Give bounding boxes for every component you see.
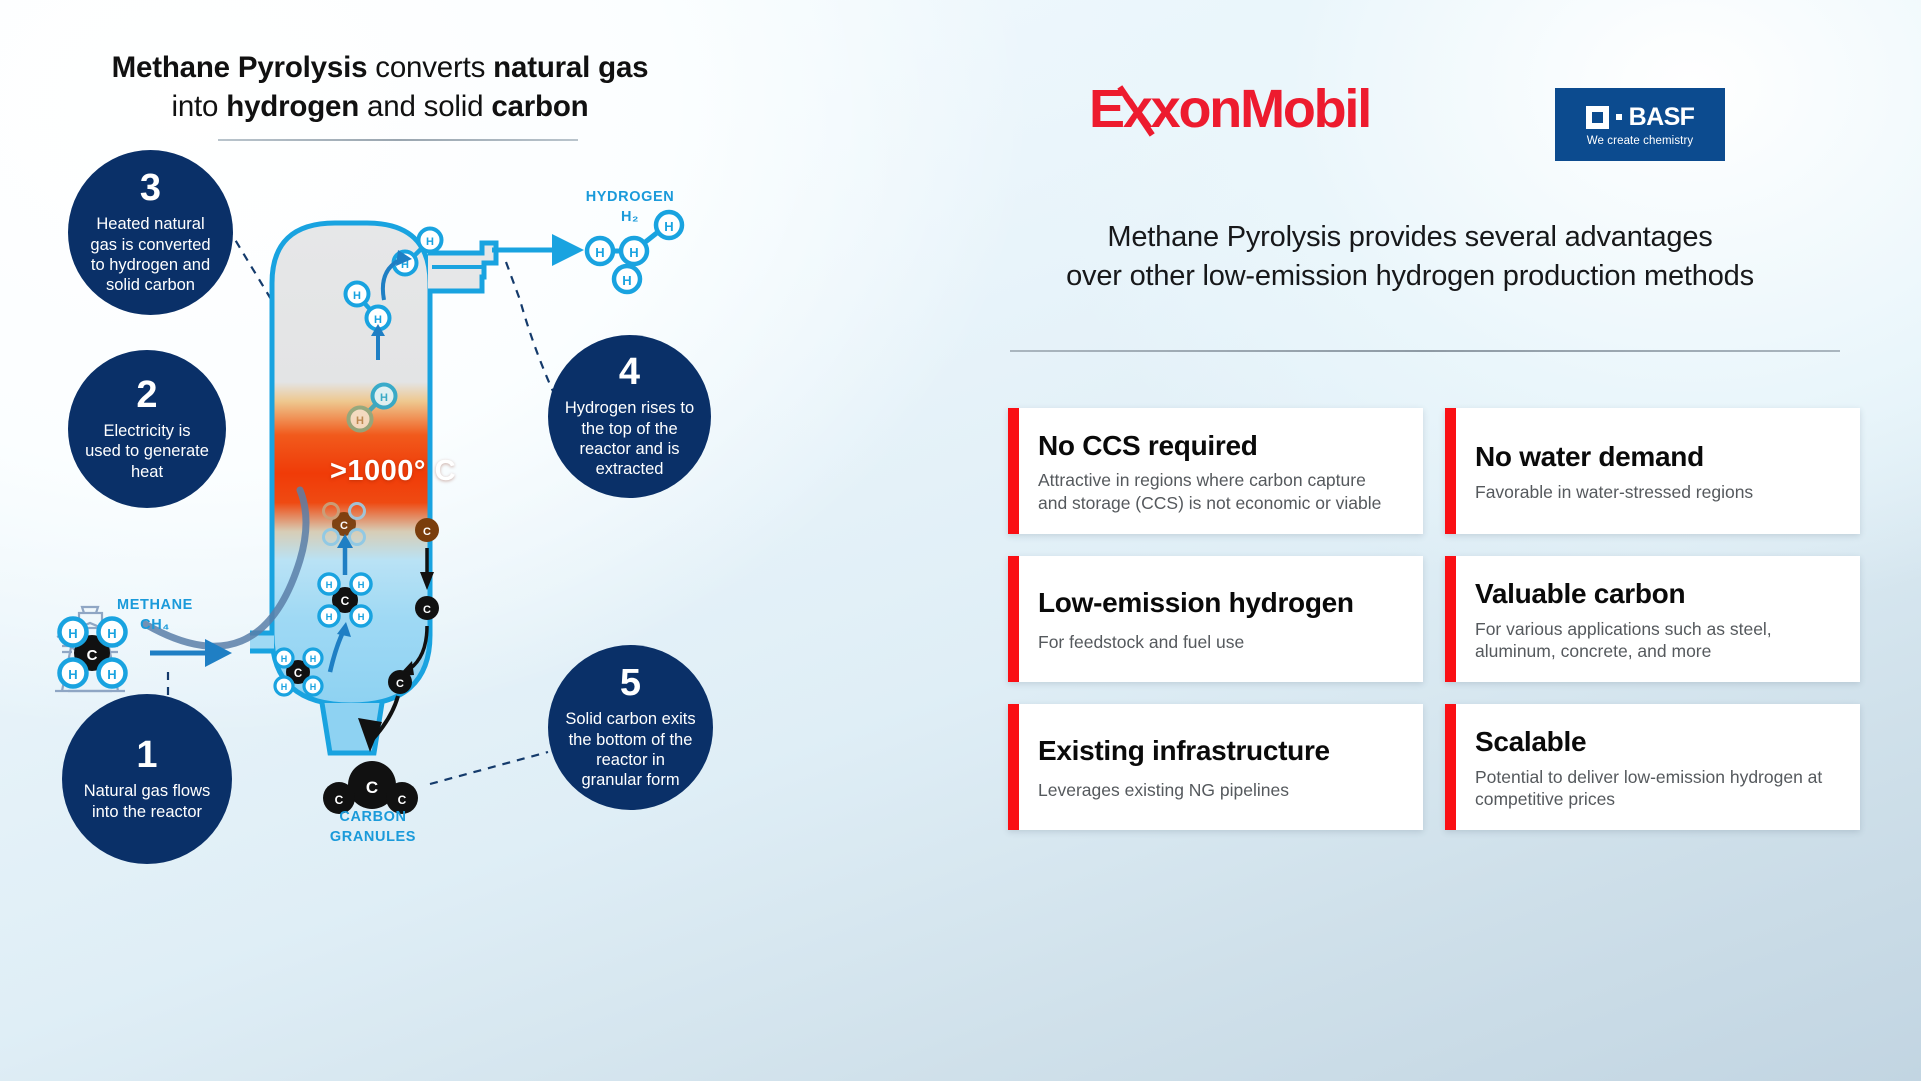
carbon-label-line2: GRANULES	[288, 828, 458, 848]
right-subtitle: Methane Pyrolysis provides several advan…	[960, 218, 1860, 296]
step-circle-2[interactable]: 2 Electricity is used to generate heat	[68, 350, 226, 508]
step-4-number: 4	[619, 353, 640, 391]
methane-label: METHANE CH₄	[75, 596, 235, 635]
benefit-card-title: No water demand	[1475, 441, 1834, 472]
step-2-number: 2	[136, 376, 157, 414]
step-5-description: Solid carbon exits the bottom of the rea…	[564, 709, 697, 791]
methane-label-name: METHANE	[75, 596, 235, 616]
benefit-card-title: Existing infrastructure	[1038, 735, 1397, 766]
benefit-card-body: Potential to deliver low-emission hydrog…	[1475, 766, 1834, 811]
hydrogen-label-formula: H₂	[545, 208, 715, 228]
benefit-card-no-ccs[interactable]: No CCS required Attractive in regions wh…	[1008, 408, 1423, 534]
hydrogen-label-name: HYDROGEN	[545, 188, 715, 208]
step-3-number: 3	[140, 169, 161, 207]
step-1-description: Natural gas flows into the reactor	[78, 781, 216, 822]
basf-dot-icon	[1616, 114, 1622, 120]
benefit-card-body: For feedstock and fuel use	[1038, 631, 1397, 653]
carbon-label-line1: CARBON	[288, 808, 458, 828]
benefit-card-no-water[interactable]: No water demand Favorable in water-stres…	[1445, 408, 1860, 534]
step-4-description: Hydrogen rises to the top of the reactor…	[564, 398, 695, 480]
hydrogen-label: HYDROGEN H₂	[545, 188, 715, 227]
step-1-number: 1	[136, 736, 157, 774]
step-5-number: 5	[620, 664, 641, 702]
benefit-card-title: No CCS required	[1038, 430, 1397, 461]
step-3-description: Heated natural gas is converted to hydro…	[84, 214, 217, 296]
step-circle-5[interactable]: 5 Solid carbon exits the bottom of the r…	[548, 645, 713, 810]
right-subtitle-line2: over other low-emission hydrogen product…	[960, 257, 1860, 296]
benefit-card-title: Low-emission hydrogen	[1038, 587, 1397, 618]
carbon-granules-label: CARBON GRANULES	[288, 808, 458, 847]
benefit-card-valuable-carbon[interactable]: Valuable carbon For various applications…	[1445, 556, 1860, 682]
methane-label-formula: CH₄	[75, 616, 235, 636]
basf-tagline: We create chemistry	[1587, 135, 1694, 147]
infographic-canvas: Methane Pyrolysis converts natural gas i…	[0, 0, 1921, 1081]
reactor-temperature-label: >1000° C	[268, 455, 518, 488]
right-divider	[1010, 350, 1840, 352]
benefit-card-body: For various applications such as steel, …	[1475, 618, 1834, 663]
right-subtitle-line1: Methane Pyrolysis provides several advan…	[960, 218, 1860, 257]
benefit-card-body: Favorable in water-stressed regions	[1475, 481, 1834, 503]
benefit-card-low-emission[interactable]: Low-emission hydrogen For feedstock and …	[1008, 556, 1423, 682]
step-circle-3[interactable]: 3 Heated natural gas is converted to hyd…	[68, 150, 233, 315]
benefit-card-title: Scalable	[1475, 726, 1834, 757]
exxonmobil-logo: ExxonMobil	[1089, 78, 1370, 140]
exxon-logo-onmobil: onMobil	[1179, 79, 1371, 139]
vessel-outlet	[322, 703, 382, 753]
benefit-card-scalable[interactable]: Scalable Potential to deliver low-emissi…	[1445, 704, 1860, 830]
basf-logo: BASF We create chemistry	[1555, 88, 1725, 161]
exxon-logo-xx: xx	[1123, 78, 1179, 140]
basf-logo-row: BASF	[1586, 103, 1695, 132]
benefit-card-body: Leverages existing NG pipelines	[1038, 779, 1397, 801]
step-circle-1[interactable]: 1 Natural gas flows into the reactor	[62, 694, 232, 864]
step-2-description: Electricity is used to generate heat	[84, 421, 210, 482]
benefit-card-existing-infrastructure[interactable]: Existing infrastructure Leverages existi…	[1008, 704, 1423, 830]
benefit-cards-grid: No CCS required Attractive in regions wh…	[1008, 408, 1860, 830]
basf-square-icon	[1586, 106, 1609, 129]
step-circle-4[interactable]: 4 Hydrogen rises to the top of the react…	[548, 335, 711, 498]
basf-wordmark: BASF	[1629, 103, 1695, 132]
benefit-card-body: Attractive in regions where carbon captu…	[1038, 469, 1397, 514]
benefit-card-title: Valuable carbon	[1475, 578, 1834, 609]
